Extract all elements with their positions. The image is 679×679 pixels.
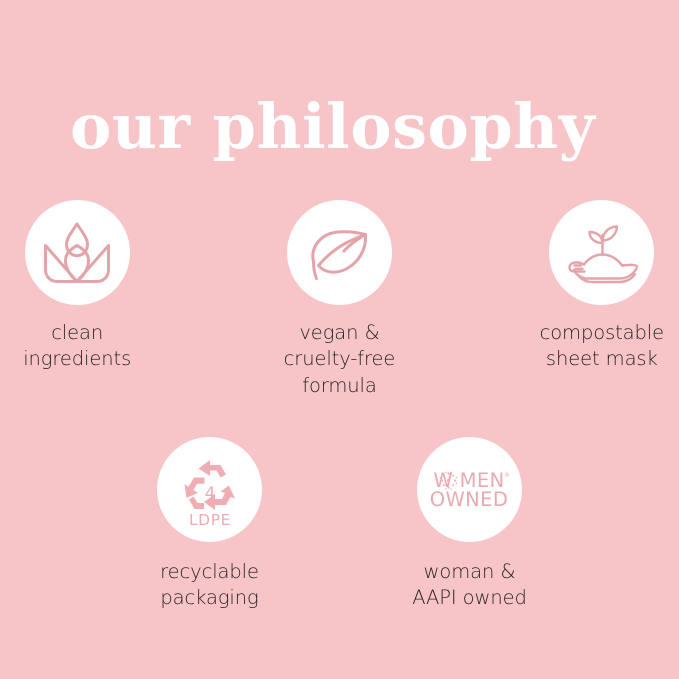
page-title: our philosophy — [70, 96, 630, 158]
badge-caption: recyclable packaging — [160, 559, 259, 612]
badge-disc — [549, 200, 654, 305]
two-leaves-icon — [301, 221, 377, 285]
badge-woman-aapi-owned[interactable]: W MEN OWNED ® — [391, 437, 549, 612]
badge-row-bottom: 4 LDPE recyclable packaging W MEN OWNED … — [0, 437, 679, 612]
badge-recyclable-packaging[interactable]: 4 LDPE recyclable packaging — [131, 437, 289, 612]
badge-caption: woman & AAPI owned — [412, 559, 527, 612]
recycle-material-label: LDPE — [188, 511, 230, 527]
lotus-droplet-leaves-icon — [38, 218, 116, 288]
badge-disc: 4 LDPE — [157, 437, 262, 542]
women-owned-badge-icon: W MEN OWNED ® — [428, 467, 512, 513]
badge-caption: vegan & cruelty-free formula — [284, 320, 396, 399]
women-owned-trademark: ® — [504, 472, 510, 479]
women-owned-line-2: OWNED — [429, 488, 508, 511]
badge-row-top: clean ingredients vegan & cruelty-free f… — [0, 200, 679, 399]
badge-vegan-cruelty-free[interactable]: vegan & cruelty-free formula — [262, 200, 416, 399]
badge-compostable-sheet-mask[interactable]: compostable sheet mask — [525, 200, 679, 399]
badge-disc — [25, 200, 130, 305]
hand-holding-sprout-icon — [562, 219, 642, 287]
recycling-ldpe-icon: 4 LDPE — [173, 453, 247, 527]
recycle-number: 4 — [204, 484, 215, 504]
badge-caption: compostable sheet mask — [540, 320, 664, 373]
badge-disc — [287, 200, 392, 305]
badge-disc: W MEN OWNED ® — [417, 437, 522, 542]
philosophy-panel: our philosophy cle — [0, 0, 679, 679]
badge-caption: clean ingredients — [23, 320, 131, 373]
badge-clean-ingredients[interactable]: clean ingredients — [0, 200, 154, 399]
